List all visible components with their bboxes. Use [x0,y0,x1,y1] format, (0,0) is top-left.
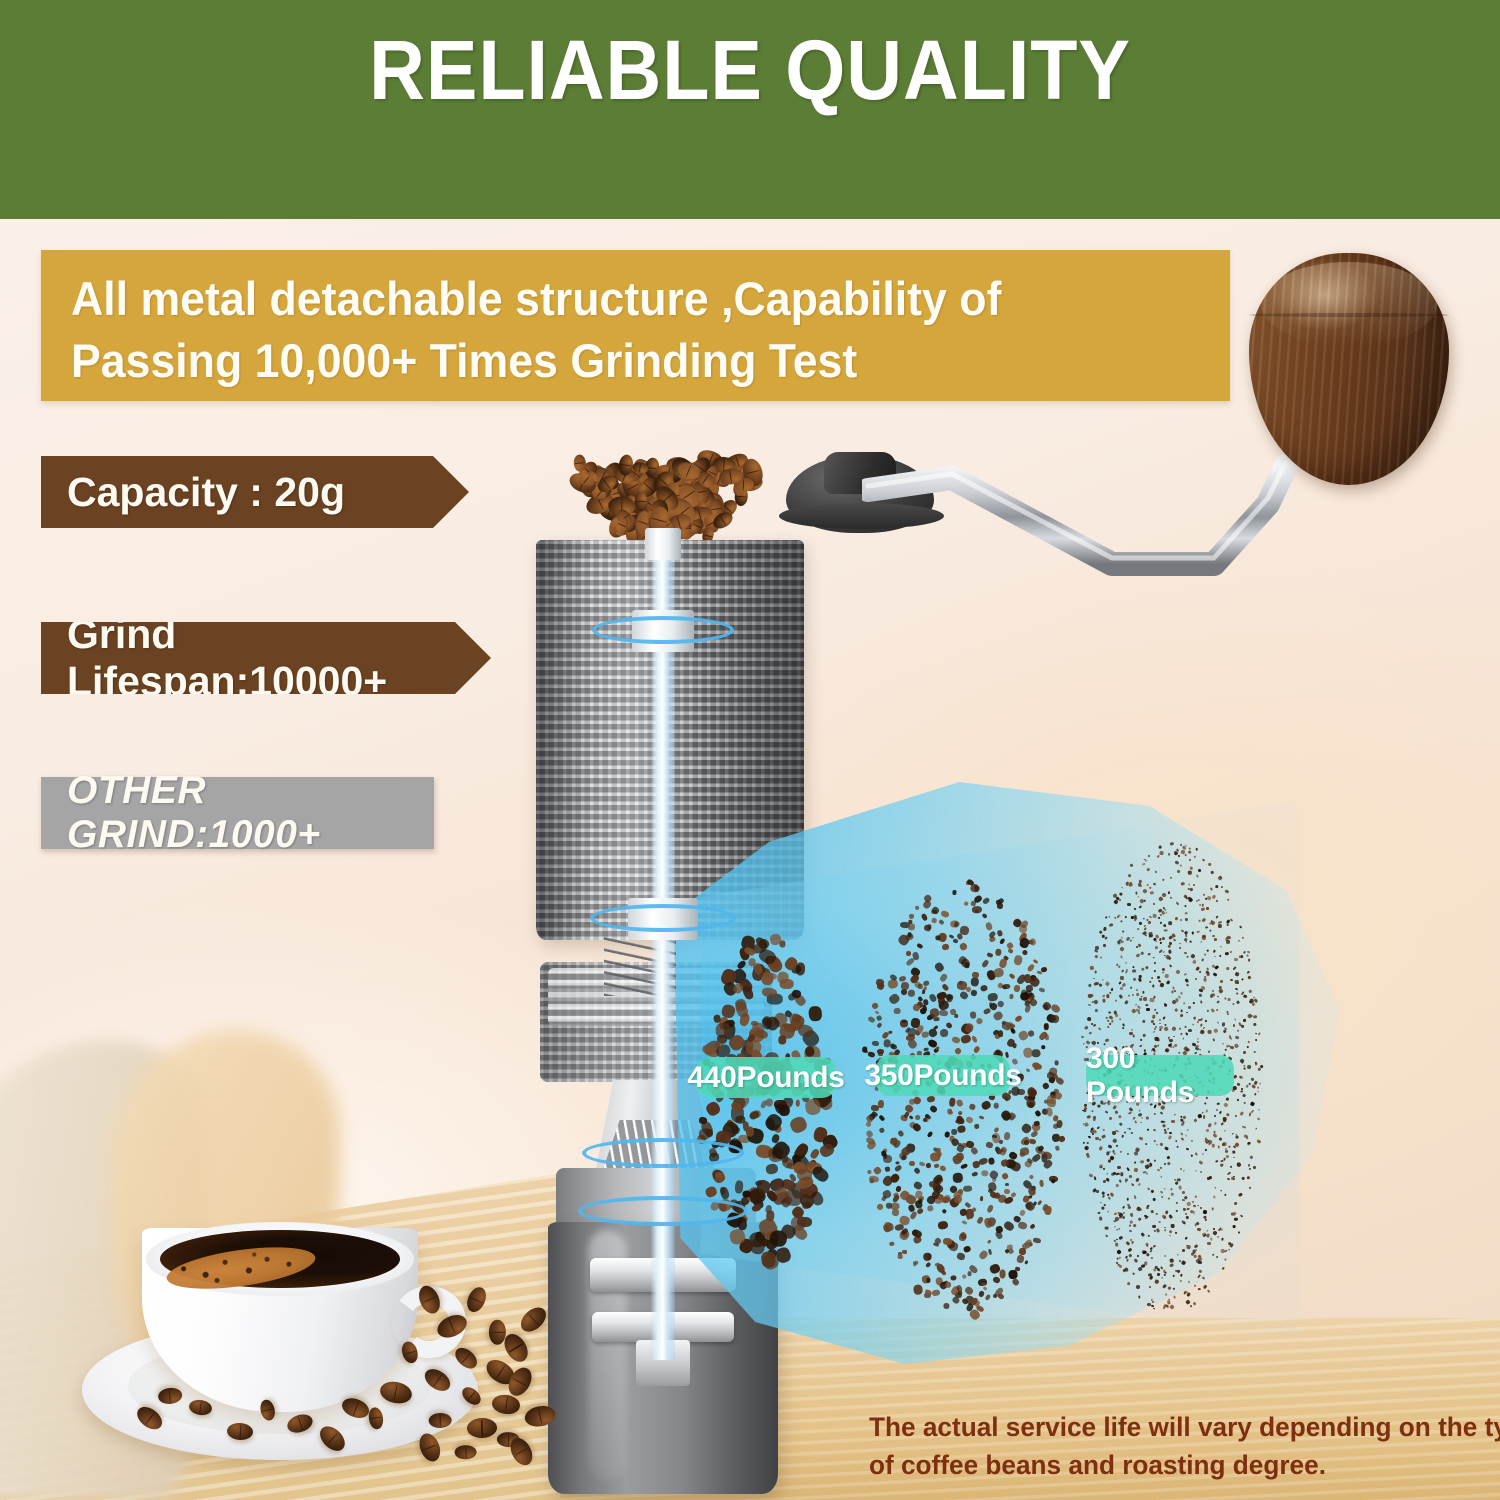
feature-banner: All metal detachable structure ,Capabili… [41,250,1230,401]
infographic-scene: RELIABLE QUALITY All metal detachable st… [0,0,1500,1500]
spec-badge-grind-lifespan: Grind Lifespan:10000+ [41,622,491,694]
grind-zone-label-440: 440Pounds [696,1057,836,1098]
crank-arm [862,452,1302,592]
blue-accent-ring-2 [590,904,736,932]
spec-badge-other-grind: OTHER GRIND:1000+ [41,777,434,849]
page-title: RELIABLE QUALITY [60,22,1440,119]
disclaimer-note: The actual service life will vary depend… [869,1408,1489,1484]
feature-banner-line-1: All metal detachable structure ,Capabili… [71,268,1144,330]
spec-badge-capacity: Capacity : 20g [41,456,469,528]
blue-accent-ring-3 [582,1138,744,1168]
shaft-segment-top [645,528,681,560]
blue-accent-ring-4 [578,1196,748,1226]
disclaimer-line-2: of coffee beans and roasting degree. [869,1446,1470,1484]
grind-zone-label-350: 350Pounds [876,1055,1010,1096]
disclaimer-line-1: The actual service life will vary depend… [869,1408,1470,1446]
feature-banner-line-2: Passing 10,000+ Times Grinding Test [71,330,1144,392]
blue-accent-ring-1 [592,616,734,644]
coffee-bean-pile [552,440,784,540]
grind-zone-label-300: 300 Pounds [1086,1055,1234,1096]
center-shaft [651,530,675,1360]
